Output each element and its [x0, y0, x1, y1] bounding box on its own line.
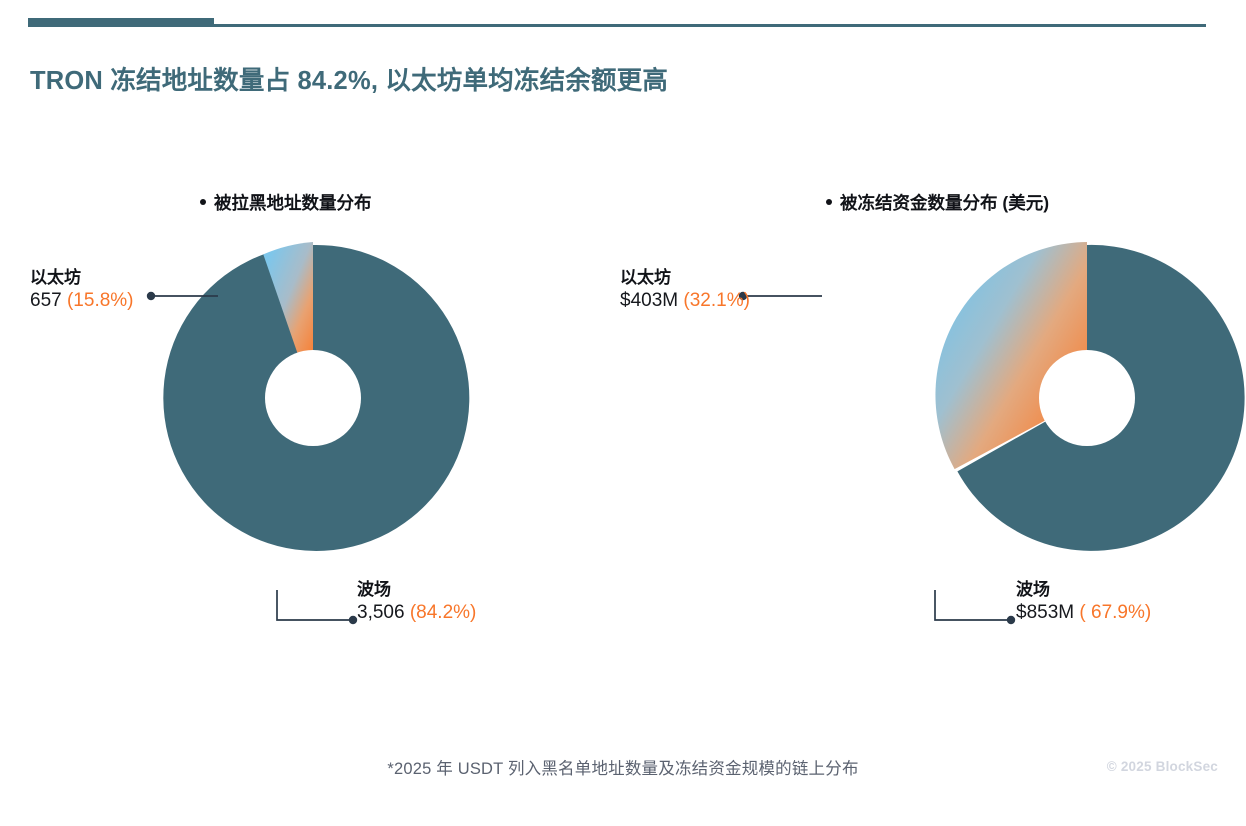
panel-heading-addresses: 被拉黑地址数量分布	[200, 190, 372, 215]
callout-number: $403M	[620, 290, 678, 311]
accent-bar-thick	[28, 18, 214, 27]
page-title: TRON 冻结地址数量占 84.2%, 以太坊单均冻结余额更高	[30, 60, 668, 97]
leader-line-tron-addresses	[272, 590, 362, 628]
callout-name: 以太坊	[30, 268, 134, 289]
callout-name: 波场	[357, 580, 476, 601]
panel-heading-funds: 被冻结资金数量分布 (美元)	[826, 190, 1049, 215]
leader-line-tron-funds	[930, 590, 1020, 628]
donut-chart-funds	[927, 238, 1246, 558]
callout-percent: ( 67.9%)	[1079, 602, 1151, 623]
panel-heading-label: 被拉黑地址数量分布	[214, 193, 372, 213]
callout-value: 3,506 (84.2%)	[357, 601, 476, 624]
callout-tron-funds: 波场 $853M ( 67.9%)	[1016, 580, 1151, 624]
callout-name: 以太坊	[620, 268, 750, 289]
chart-panel-funds: 被冻结资金数量分布 (美元)	[620, 190, 1220, 690]
panel-heading-label: 被冻结资金数量分布 (美元)	[840, 193, 1049, 213]
footnote: *2025 年 USDT 列入黑名单地址数量及冻结资金规模的链上分布	[0, 755, 1246, 779]
callout-number: 3,506	[357, 602, 405, 623]
copyright-notice: © 2025 BlockSec	[1107, 759, 1218, 774]
callout-value: $853M ( 67.9%)	[1016, 601, 1151, 624]
donut-chart-addresses	[153, 238, 473, 558]
leader-line-eth-funds	[738, 290, 828, 302]
callout-name: 波场	[1016, 580, 1151, 601]
header-accent-rule	[28, 14, 1206, 28]
accent-bar-thin	[214, 24, 1206, 27]
callout-value: 657 (15.8%)	[30, 289, 134, 312]
callout-value: $403M (32.1%)	[620, 289, 750, 312]
callout-number: $853M	[1016, 602, 1074, 623]
callout-eth-addresses: 以太坊 657 (15.8%)	[30, 268, 134, 312]
callout-number: 657	[30, 290, 62, 311]
callout-percent: (84.2%)	[410, 602, 477, 623]
callout-tron-addresses: 波场 3,506 (84.2%)	[357, 580, 476, 624]
callout-percent: (15.8%)	[67, 290, 134, 311]
callout-eth-funds: 以太坊 $403M (32.1%)	[620, 268, 750, 312]
callout-percent: (32.1%)	[683, 290, 750, 311]
leader-dot-icon	[1007, 616, 1015, 624]
bullet-dot-icon	[826, 199, 832, 205]
chart-panel-addresses: 被拉黑地址数量分布	[10, 190, 610, 690]
bullet-dot-icon	[200, 199, 206, 205]
donut-slice-tron	[163, 245, 469, 551]
leader-dot-icon	[349, 616, 357, 624]
